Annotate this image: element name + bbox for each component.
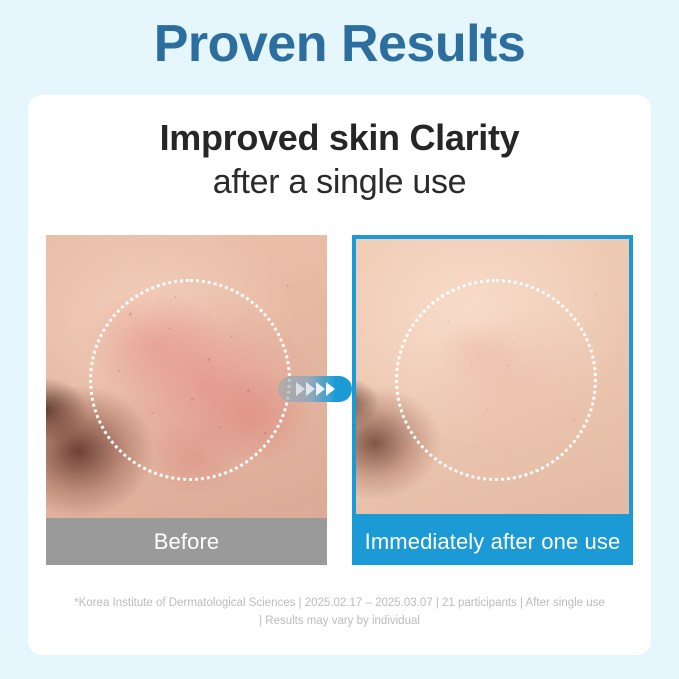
footnote-line-1: *Korea Institute of Dermatological Scien… xyxy=(28,595,651,613)
promo-page: Proven Results Improved skin Clarity aft… xyxy=(0,0,679,679)
results-card: Improved skin Clarity after a single use… xyxy=(28,95,651,655)
footnote-line-2: | Results may vary by individual xyxy=(28,613,651,631)
footnote: *Korea Institute of Dermatological Scien… xyxy=(28,595,651,631)
card-headline: Improved skin Clarity xyxy=(28,117,651,158)
panel-after: Immediately after one use xyxy=(352,235,633,565)
chevron-right-icon xyxy=(316,382,325,396)
after-photo xyxy=(356,239,629,514)
chevron-right-icon xyxy=(306,382,315,396)
caption-before: Before xyxy=(46,518,327,565)
chevron-right-icon xyxy=(326,382,335,396)
dotted-circle-overlay-before xyxy=(89,279,291,481)
before-after-comparison: Before Immediately after one use xyxy=(46,235,633,565)
progress-arrows-icon xyxy=(278,376,352,402)
page-title: Proven Results xyxy=(0,16,679,73)
chevron-right-icon xyxy=(296,382,305,396)
caption-after: Immediately after one use xyxy=(352,518,633,565)
card-subhead: after a single use xyxy=(28,163,651,202)
dotted-circle-overlay-after xyxy=(395,279,597,481)
